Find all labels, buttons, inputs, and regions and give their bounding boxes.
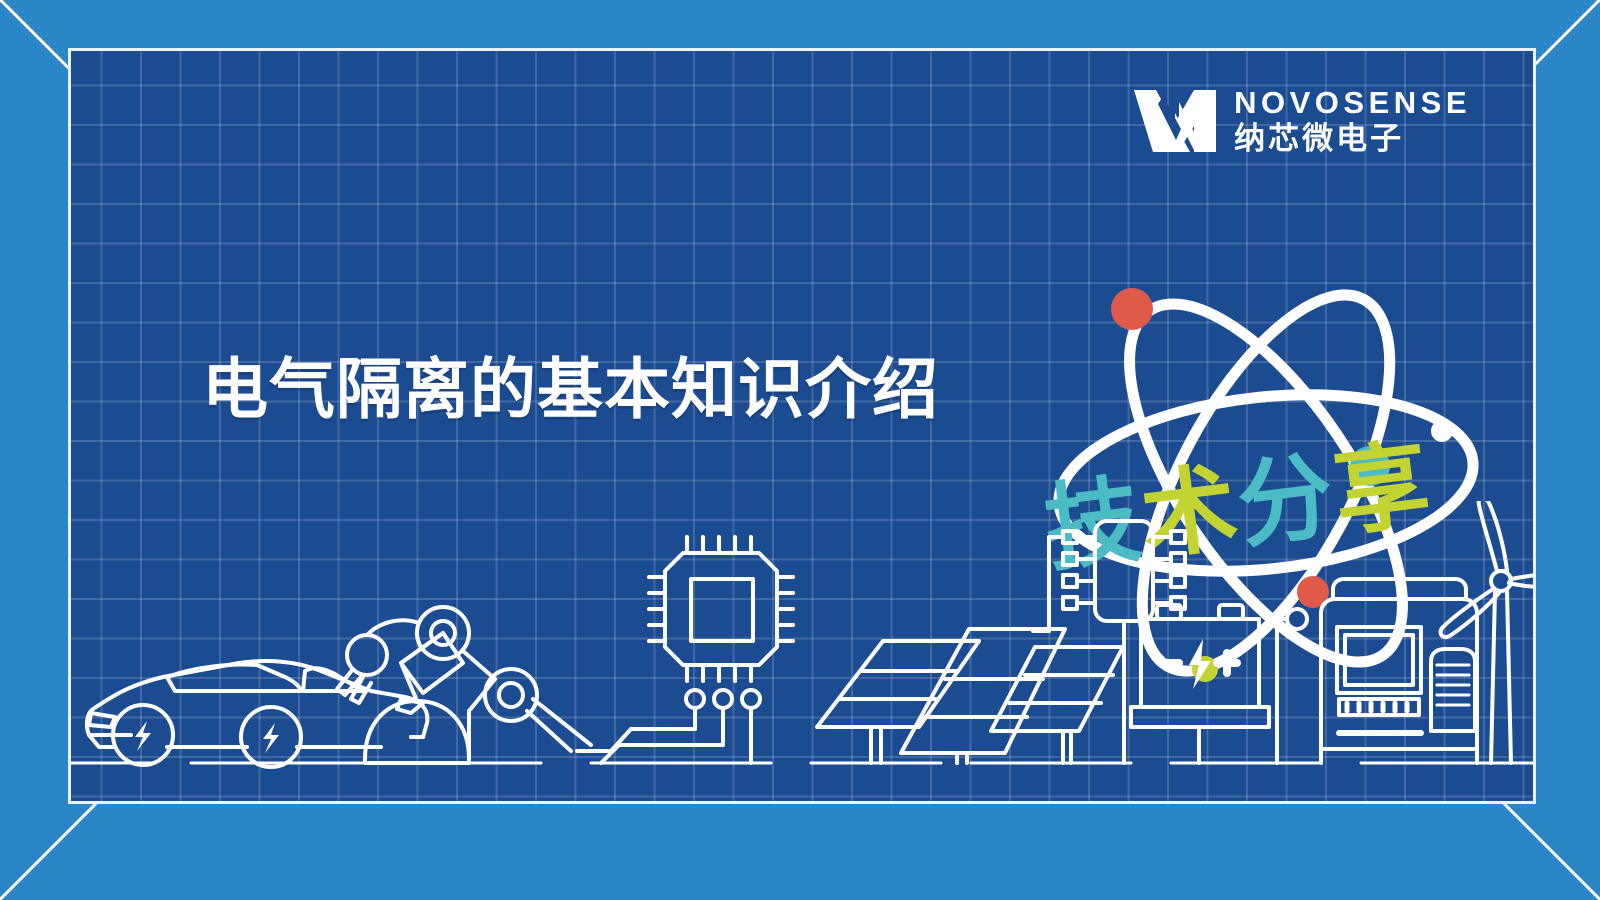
novosense-v-mark-icon xyxy=(1132,88,1218,154)
blueprint-panel: NOVOSENSE 纳芯微电子 电气隔离的基本知识介绍 技术分享 xyxy=(68,48,1536,804)
wind-turbine-icon xyxy=(1441,501,1536,763)
solar-panels-icon xyxy=(817,629,1123,763)
brand-name-en: NOVOSENSE xyxy=(1234,87,1471,118)
robot-arm-icon xyxy=(337,607,591,763)
charging-machine-icon xyxy=(1277,579,1477,763)
battery-icon xyxy=(1131,605,1269,763)
brand-logo[interactable]: NOVOSENSE 纳芯微电子 xyxy=(1132,87,1471,155)
qfp-chip-icon xyxy=(577,537,793,763)
slide-title: 电气隔离的基本知识介绍 xyxy=(202,336,939,432)
slide-root: NOVOSENSE 纳芯微电子 电气隔离的基本知识介绍 技术分享 xyxy=(0,0,1600,900)
brand-name-cn: 纳芯微电子 xyxy=(1234,124,1471,155)
electric-car-icon xyxy=(87,661,427,767)
technology-illustration xyxy=(71,501,1536,801)
electron-red-top xyxy=(1111,288,1153,330)
